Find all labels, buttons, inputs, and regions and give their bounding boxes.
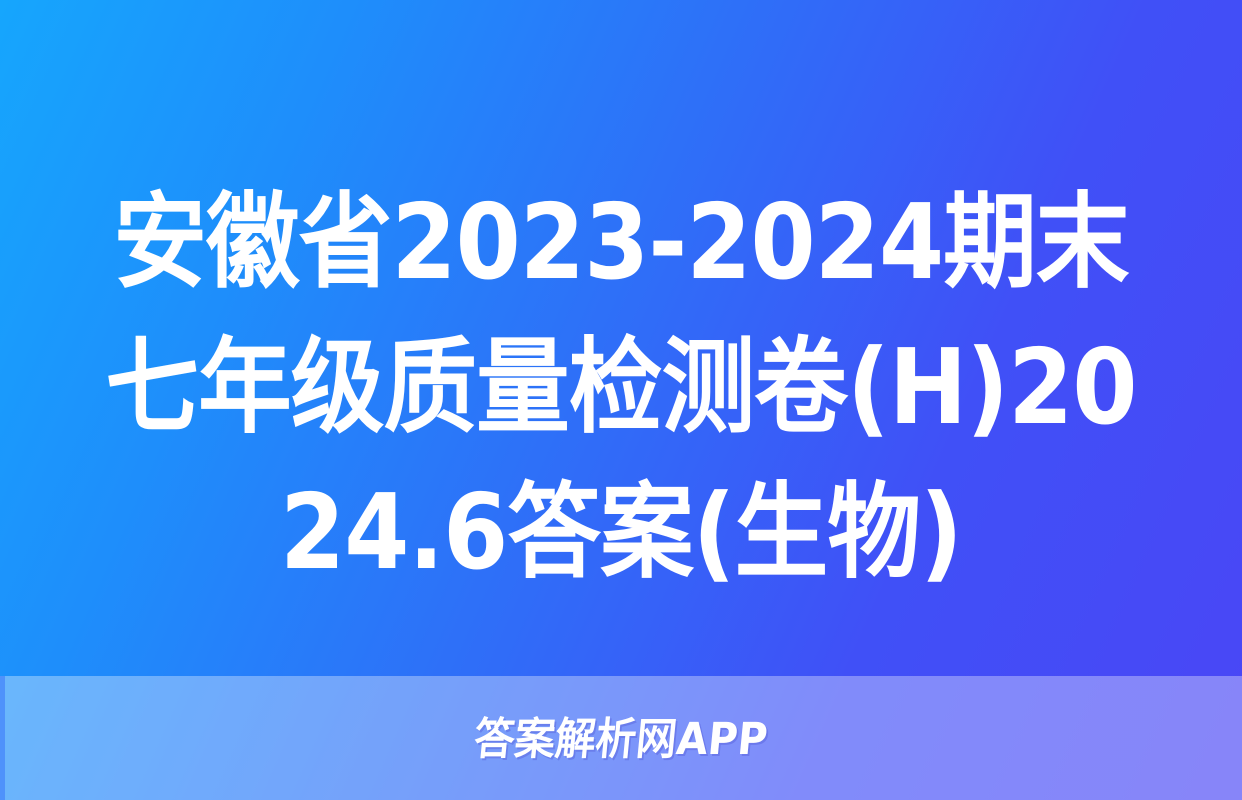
watermark-container: 答案解析网APP xyxy=(0,700,1242,770)
watermark-label: 答案解析网APP xyxy=(471,703,770,767)
page-title: 安徽省2023-2024期末 七年级质量检测卷(H)20 24.6答案(生物) xyxy=(0,170,1242,605)
title-line-3: 24.6答案(生物) xyxy=(98,460,1144,605)
title-line-1: 安徽省2023-2024期末 xyxy=(98,170,1144,315)
title-card: 安徽省2023-2024期末 七年级质量检测卷(H)20 24.6答案(生物) … xyxy=(0,0,1242,800)
title-line-2: 七年级质量检测卷(H)20 xyxy=(98,315,1144,460)
